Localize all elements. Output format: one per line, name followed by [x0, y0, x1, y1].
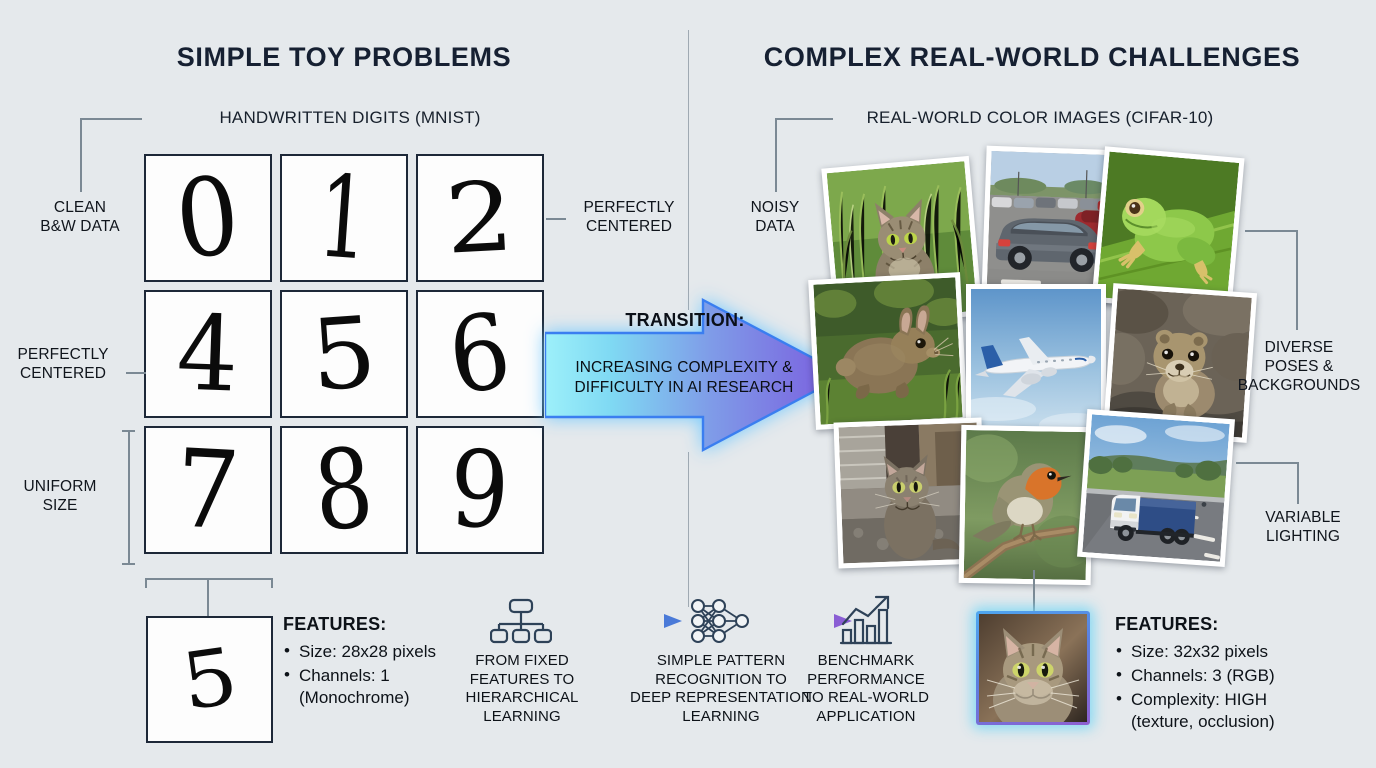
photo-bird-robin[interactable]	[959, 425, 1094, 585]
sample-bracket-left-tick	[145, 578, 147, 588]
mnist-cell-8[interactable]: 8	[280, 426, 408, 554]
variable-lighting-connector-h	[1236, 462, 1298, 464]
mnist-cell-1[interactable]: 1	[280, 154, 408, 282]
callout-perfectly-centered-left: PERFECTLY CENTERED	[0, 345, 126, 383]
mnist-cell-9[interactable]: 9	[416, 426, 544, 554]
digit-glyph: 2	[443, 168, 516, 267]
mnist-cell-2[interactable]: 2	[416, 154, 544, 282]
transition-title: TRANSITION:	[560, 310, 810, 331]
mnist-feature-item: Size: 28x28 pixels	[283, 641, 458, 663]
noisy-data-connector	[775, 166, 777, 192]
digit-glyph: 9	[449, 436, 511, 544]
photo-rabbit-image	[813, 277, 962, 424]
cifar-feature-item: Complexity: HIGH (texture, occlusion)	[1115, 689, 1345, 733]
clean-bw-data-connector	[80, 170, 82, 192]
diverse-poses-connector-h	[1245, 230, 1297, 232]
transition-body: INCREASING COMPLEXITY & DIFFICULTY IN AI…	[550, 358, 818, 398]
photo-truck-highway[interactable]	[1077, 409, 1235, 567]
hierarchy-icon	[490, 598, 552, 644]
sample-digit-glyph: 5	[176, 631, 243, 728]
mnist-feature-item: Channels: 1 (Monochrome)	[283, 665, 458, 709]
cifar-cat-thumbnail[interactable]	[976, 611, 1090, 725]
flow-step-3-label: BENCHMARK PERFORMANCE TO REAL-WORLD APPL…	[796, 652, 936, 726]
cifar-features-title: FEATURES:	[1115, 614, 1345, 635]
infographic-canvas: SIMPLE TOY PROBLEMS HANDWRITTEN DIGITS (…	[0, 0, 1376, 768]
diverse-poses-connector-v	[1296, 230, 1298, 330]
mnist-cell-7[interactable]: 7	[144, 426, 272, 554]
perfectly-centered-left-connector	[126, 372, 146, 374]
flow-arrow-1	[598, 612, 684, 630]
mnist-digit-grid: 0 1 2 4 5 6 7 8 9	[144, 154, 544, 554]
callout-perfectly-centered-right: PERFECTLY CENTERED	[566, 198, 692, 236]
uniform-size-bracket-bottom	[122, 563, 135, 565]
cifar-feature-item: Channels: 3 (RGB)	[1115, 665, 1345, 687]
photo-airplane-image	[971, 289, 1101, 439]
cifar-cat-thumbnail-image	[979, 614, 1087, 722]
perfectly-centered-right-connector	[546, 218, 566, 220]
sample-bracket-drop	[207, 578, 209, 616]
cifar-thumbnail-connector	[1033, 570, 1035, 612]
mnist-subheading-connector-h	[80, 118, 142, 120]
callout-uniform-size: UNIFORM SIZE	[0, 477, 120, 515]
mnist-features-list: Size: 28x28 pixels Channels: 1 (Monochro…	[283, 641, 458, 709]
callout-variable-lighting: VARIABLE LIGHTING	[1230, 508, 1376, 546]
left-panel-heading: SIMPLE TOY PROBLEMS	[0, 42, 688, 73]
cifar-features-list: Size: 32x32 pixels Channels: 3 (RGB) Com…	[1115, 641, 1345, 733]
digit-glyph: 4	[176, 301, 241, 407]
mnist-cell-5[interactable]: 5	[280, 290, 408, 418]
digit-glyph: 1	[315, 160, 373, 276]
photo-rabbit[interactable]	[808, 272, 968, 430]
digit-glyph: 7	[173, 435, 242, 546]
mnist-features-title: FEATURES:	[283, 614, 458, 635]
neural-network-icon	[688, 596, 754, 646]
cifar-subheading: REAL-WORLD COLOR IMAGES (CIFAR-10)	[840, 108, 1240, 128]
variable-lighting-connector-v	[1297, 462, 1299, 504]
photo-bird-robin-image	[964, 430, 1089, 580]
mnist-cell-6[interactable]: 6	[416, 290, 544, 418]
photo-truck-highway-image	[1082, 414, 1229, 561]
digit-glyph: 6	[443, 298, 517, 409]
cifar-subheading-connector-h	[775, 118, 833, 120]
sample-bracket-h	[145, 578, 273, 580]
digit-glyph: 0	[171, 161, 244, 274]
bar-chart-growth-icon	[838, 594, 894, 646]
cifar-feature-item: Size: 32x32 pixels	[1115, 641, 1345, 663]
photo-airplane[interactable]	[966, 284, 1106, 444]
uniform-size-bracket-v	[128, 430, 130, 564]
digit-glyph: 5	[308, 303, 379, 405]
callout-diverse-poses-backgrounds: DIVERSE POSES & BACKGROUNDS	[1222, 338, 1376, 395]
uniform-size-bracket-top	[122, 430, 135, 432]
callout-noisy-data: NOISY DATA	[715, 198, 835, 236]
right-panel-heading: COMPLEX REAL-WORLD CHALLENGES	[688, 42, 1376, 73]
mnist-subheading: HANDWRITTEN DIGITS (MNIST)	[150, 108, 550, 128]
digit-glyph: 8	[310, 433, 377, 547]
flow-step-1-label: FROM FIXED FEATURES TO HIERARCHICAL LEAR…	[452, 652, 592, 726]
mnist-sample-box[interactable]: 5	[146, 616, 273, 743]
mnist-cell-0[interactable]: 0	[144, 154, 272, 282]
mnist-cell-4[interactable]: 4	[144, 290, 272, 418]
cifar-features-block: FEATURES: Size: 32x32 pixels Channels: 3…	[1115, 614, 1345, 735]
sample-bracket-right-tick	[271, 578, 273, 588]
callout-clean-bw-data: CLEAN B&W DATA	[10, 198, 150, 236]
center-divider-bottom	[688, 452, 689, 607]
mnist-features-block: FEATURES: Size: 28x28 pixels Channels: 1…	[283, 614, 458, 711]
